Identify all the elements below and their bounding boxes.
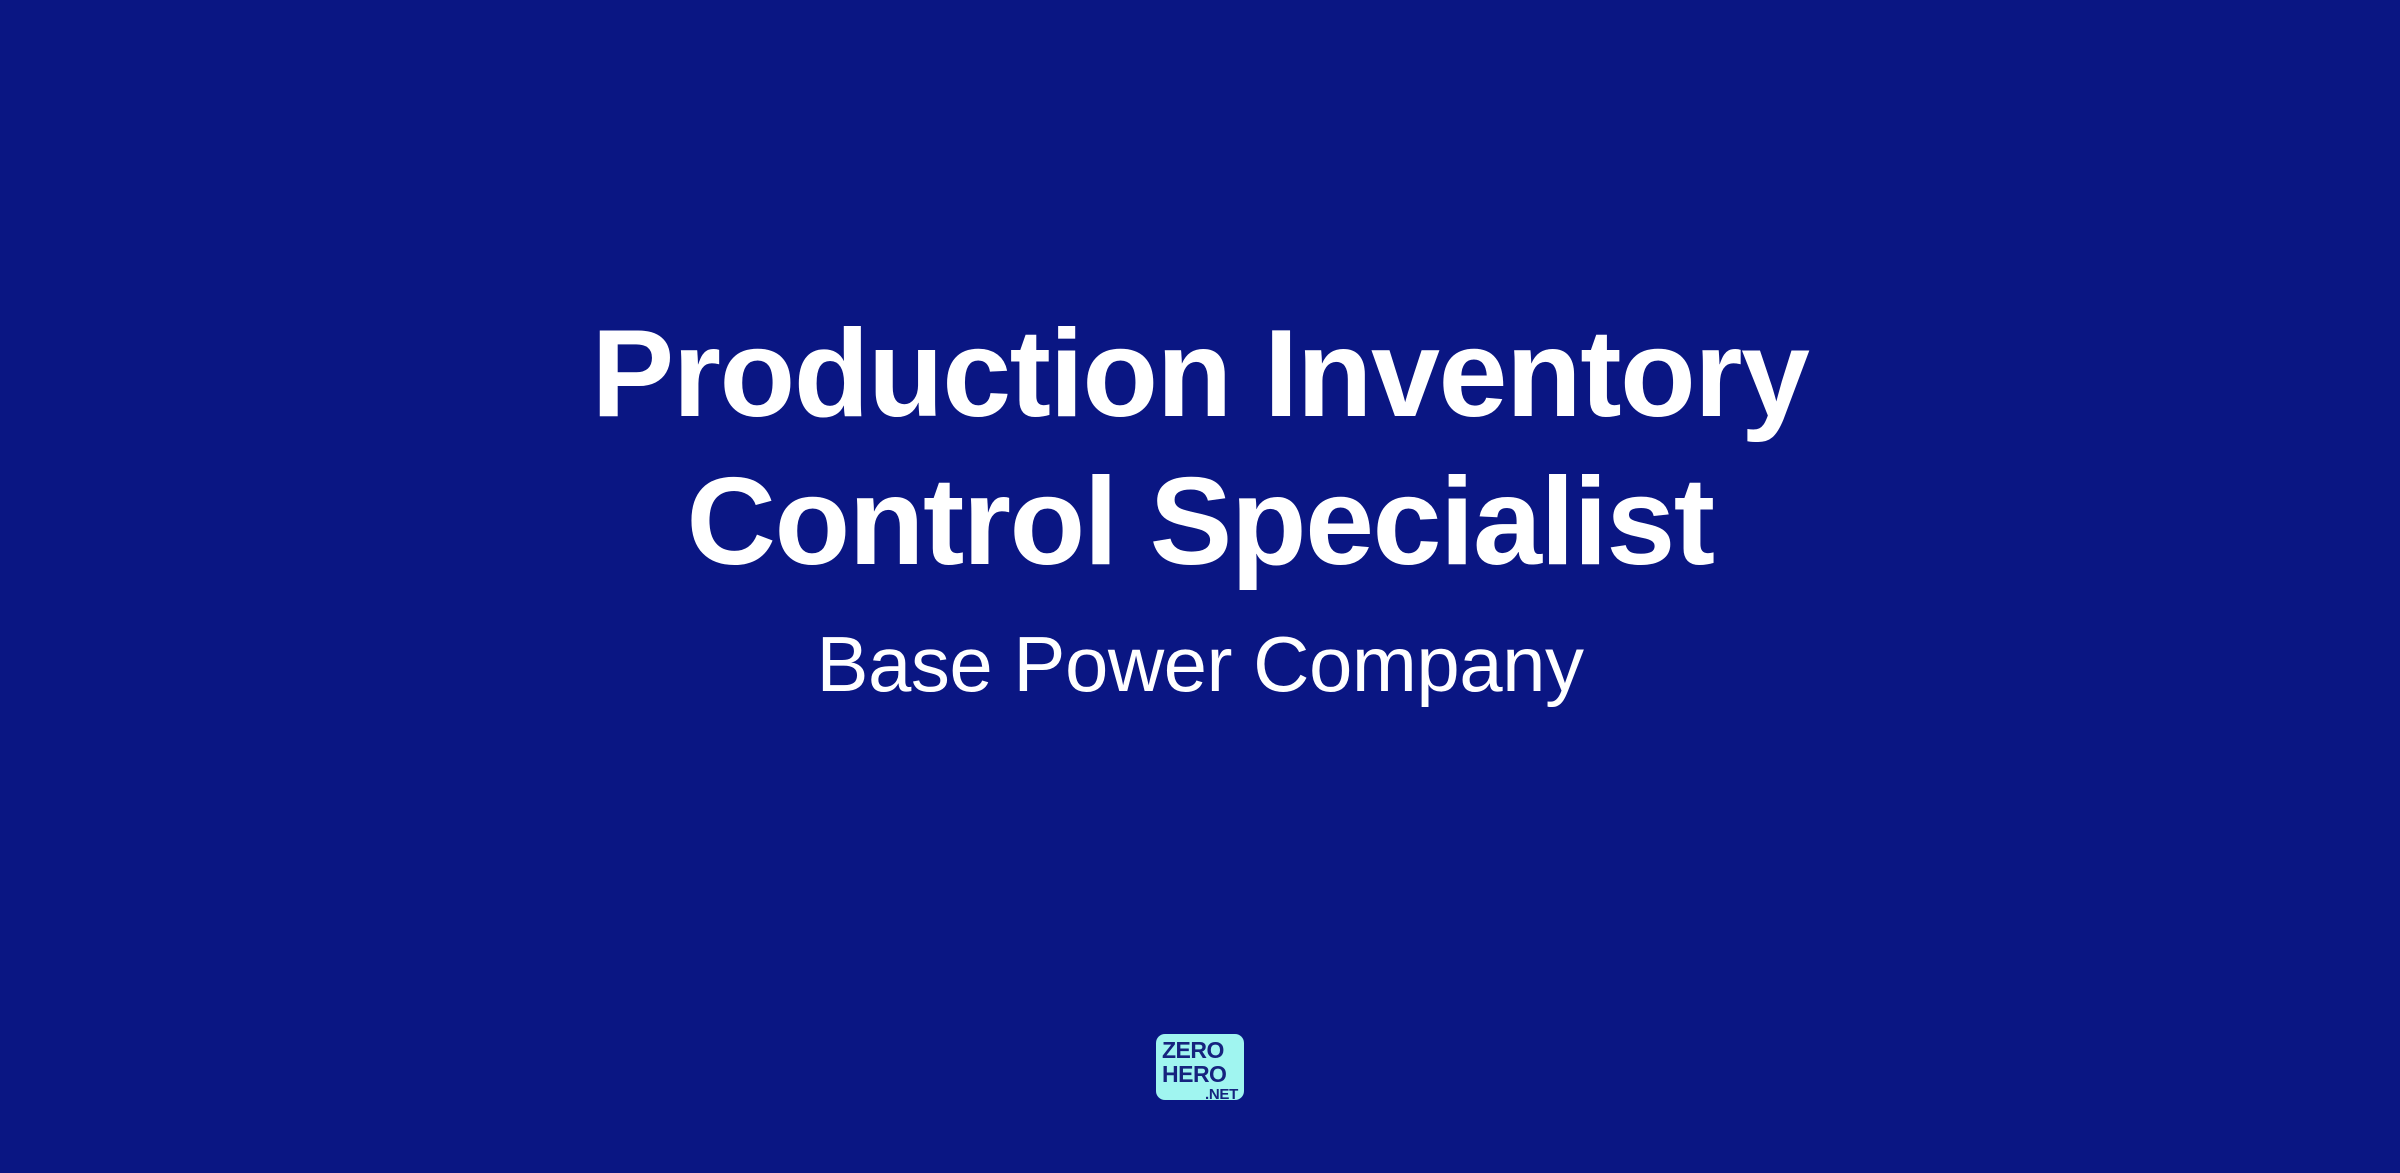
zerohero-logo[interactable]: ZERO HERO .NET	[1156, 1034, 1244, 1100]
job-title: Production Inventory Control Specialist	[390, 300, 2010, 596]
title-card-slide: Production Inventory Control Specialist …	[0, 0, 2400, 1173]
logo-text-hero: HERO	[1162, 1063, 1238, 1086]
logo-container: ZERO HERO .NET	[0, 1034, 2400, 1100]
logo-text-zero: ZERO	[1162, 1039, 1238, 1062]
logo-text-net: .NET	[1162, 1087, 1238, 1100]
headline-block: Production Inventory Control Specialist …	[0, 300, 2400, 712]
company-name: Base Power Company	[816, 596, 1583, 712]
